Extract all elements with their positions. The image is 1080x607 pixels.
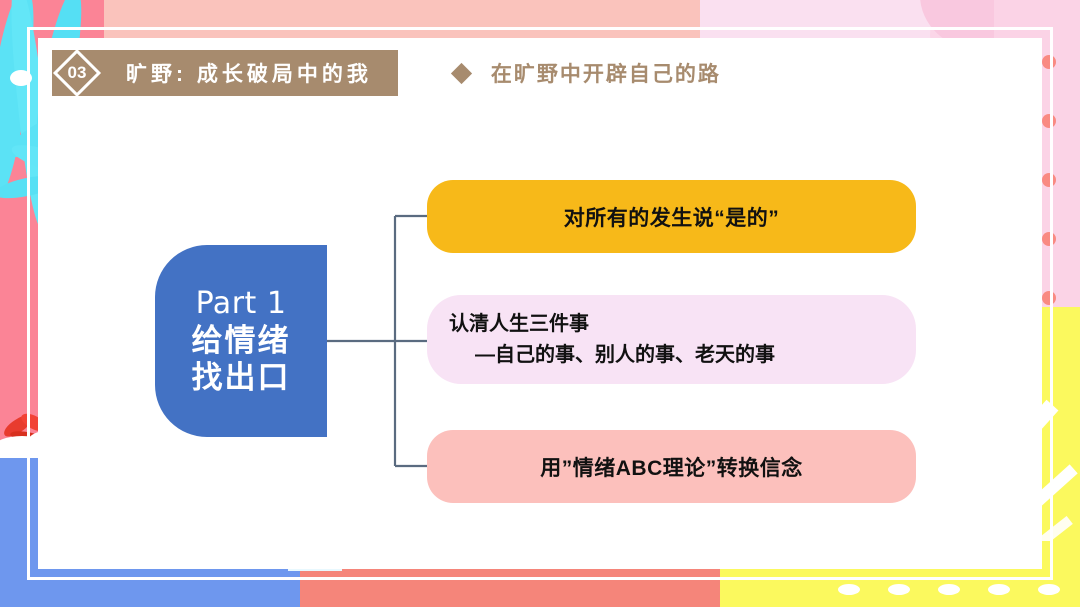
branch-node-2-text: 认清人生三件事 —自己的事、别人的事、老天的事 xyxy=(449,309,775,371)
diagram-branch-node-1[interactable]: 对所有的发生说“是的” xyxy=(427,180,916,253)
branch-node-3-text: 用”情绪ABC理论”转换信念 xyxy=(540,452,803,482)
white-dot xyxy=(838,584,860,595)
slide-header: 03 旷野: 成长破局中的我 在旷野中开辟自己的路 xyxy=(52,50,721,96)
diagram-branch-node-3[interactable]: 用”情绪ABC理论”转换信念 xyxy=(427,430,916,503)
branch-node-2-line-1: 认清人生三件事 xyxy=(449,309,775,340)
white-dot xyxy=(888,584,910,595)
root-node-label-en: Part 1 xyxy=(196,286,287,321)
root-node-label-cn-line2: 找出口 xyxy=(192,360,291,397)
diagram-branch-node-2[interactable]: 认清人生三件事 —自己的事、别人的事、老天的事 xyxy=(427,295,916,384)
diamond-bullet-icon xyxy=(451,62,472,83)
white-dot xyxy=(938,584,960,595)
diagram-root-node[interactable]: Part 1 给情绪 找出口 xyxy=(155,245,327,437)
root-node-label-cn-line1: 给情绪 xyxy=(192,323,291,360)
root-node-label-cn: 给情绪 找出口 xyxy=(192,323,291,396)
branch-node-2-line-2: —自己的事、别人的事、老天的事 xyxy=(449,340,775,371)
slide-subtitle-group: 在旷野中开辟自己的路 xyxy=(454,58,721,88)
bottom-dot-row xyxy=(838,584,1060,595)
section-number: 03 xyxy=(60,56,94,90)
branch-node-1-text: 对所有的发生说“是的” xyxy=(564,202,780,232)
white-dot xyxy=(988,584,1010,595)
section-title: 旷野: 成长破局中的我 xyxy=(126,58,372,88)
slide-canvas: 03 旷野: 成长破局中的我 在旷野中开辟自己的路 Part 1 给情绪 找出口 xyxy=(0,0,1080,607)
white-dot xyxy=(1038,584,1060,595)
slide-subtitle: 在旷野中开辟自己的路 xyxy=(491,58,721,88)
section-title-bar: 03 旷野: 成长破局中的我 xyxy=(52,50,398,96)
